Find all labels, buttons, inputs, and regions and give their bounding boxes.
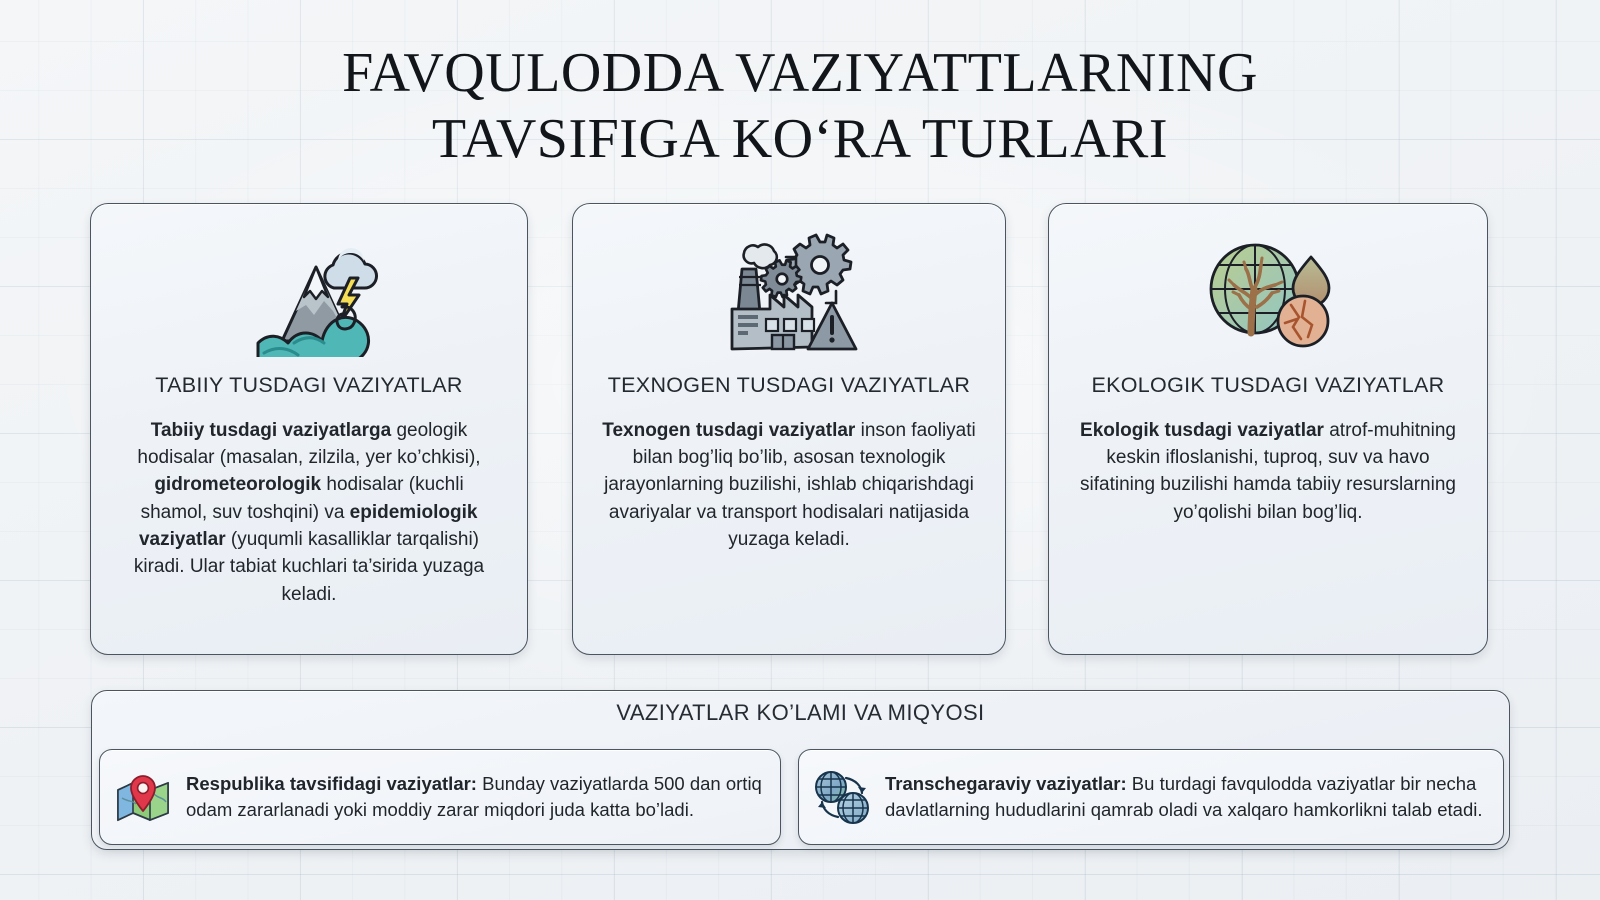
- map-pin-icon: [112, 764, 174, 830]
- card-natural-situations[interactable]: TABIIY TUSDAGI VAZIYATLAR Tabiiy tusdagi…: [90, 203, 528, 655]
- card-technogenic-situations[interactable]: TEXNOGEN TUSDAGI VAZIYATLAR Texnogen tus…: [572, 203, 1006, 655]
- card-title: TEXNOGEN TUSDAGI VAZIYATLAR: [608, 370, 971, 401]
- scope-card-transboundary[interactable]: Transchegaraviy vaziyatlar: Bu turdagi f…: [798, 749, 1504, 845]
- card-body-bold-1: Texnogen tusdagi vaziyatlar: [602, 420, 855, 441]
- two-globes-exchange-icon: [811, 764, 873, 830]
- page-title-line-1: FAVQULODDA VAZIYATTLARNING: [0, 40, 1600, 106]
- scope-card-label: Transchegaraviy vaziyatlar:: [885, 773, 1127, 794]
- globe-tree-droplet-cracked-earth-icon: [1193, 230, 1343, 358]
- card-body: Ekologik tusdagi vaziyatlar atrof-muhitn…: [1071, 417, 1465, 526]
- card-ecological-situations[interactable]: EKOLOGIK TUSDAGI VAZIYATLAR Ekologik tus…: [1048, 203, 1488, 655]
- scope-panel-header: VAZIYATLAR KO’LAMI VA MIQYOSI: [92, 700, 1509, 726]
- card-body-bold-2: gidrometeorologik: [154, 474, 321, 495]
- factory-gears-warning-icon: [714, 230, 864, 358]
- scope-card-text: Respublika tavsifidagi vaziyatlar: Bunda…: [186, 771, 766, 822]
- card-body: Texnogen tusdagi vaziyatlar inson faoliy…: [595, 417, 983, 554]
- infographic-page: FAVQULODDA VAZIYATTLARNING TAVSIFIGA KO‘…: [0, 0, 1600, 900]
- card-title: EKOLOGIK TUSDAGI VAZIYATLAR: [1092, 370, 1445, 401]
- scope-card-label: Respublika tavsifidagi vaziyatlar:: [186, 773, 477, 794]
- scope-panel: VAZIYATLAR KO’LAMI VA MIQYOSI Respublika…: [91, 690, 1510, 850]
- scope-card-republic[interactable]: Respublika tavsifidagi vaziyatlar: Bunda…: [99, 749, 781, 845]
- scope-card-text: Transchegaraviy vaziyatlar: Bu turdagi f…: [885, 771, 1489, 822]
- page-title: FAVQULODDA VAZIYATTLARNING TAVSIFIGA KO‘…: [0, 40, 1600, 172]
- mountain-storm-wave-icon: [234, 230, 384, 358]
- card-body-bold-1: Ekologik tusdagi vaziyatlar: [1080, 420, 1324, 441]
- card-body: Tabiiy tusdagi vaziyatlarga geologik hod…: [113, 417, 505, 609]
- card-body-bold-1: Tabiiy tusdagi vaziyatlarga: [151, 420, 391, 441]
- page-title-line-2: TAVSIFIGA KO‘RA TURLARI: [0, 106, 1600, 172]
- card-title: TABIIY TUSDAGI VAZIYATLAR: [155, 370, 462, 401]
